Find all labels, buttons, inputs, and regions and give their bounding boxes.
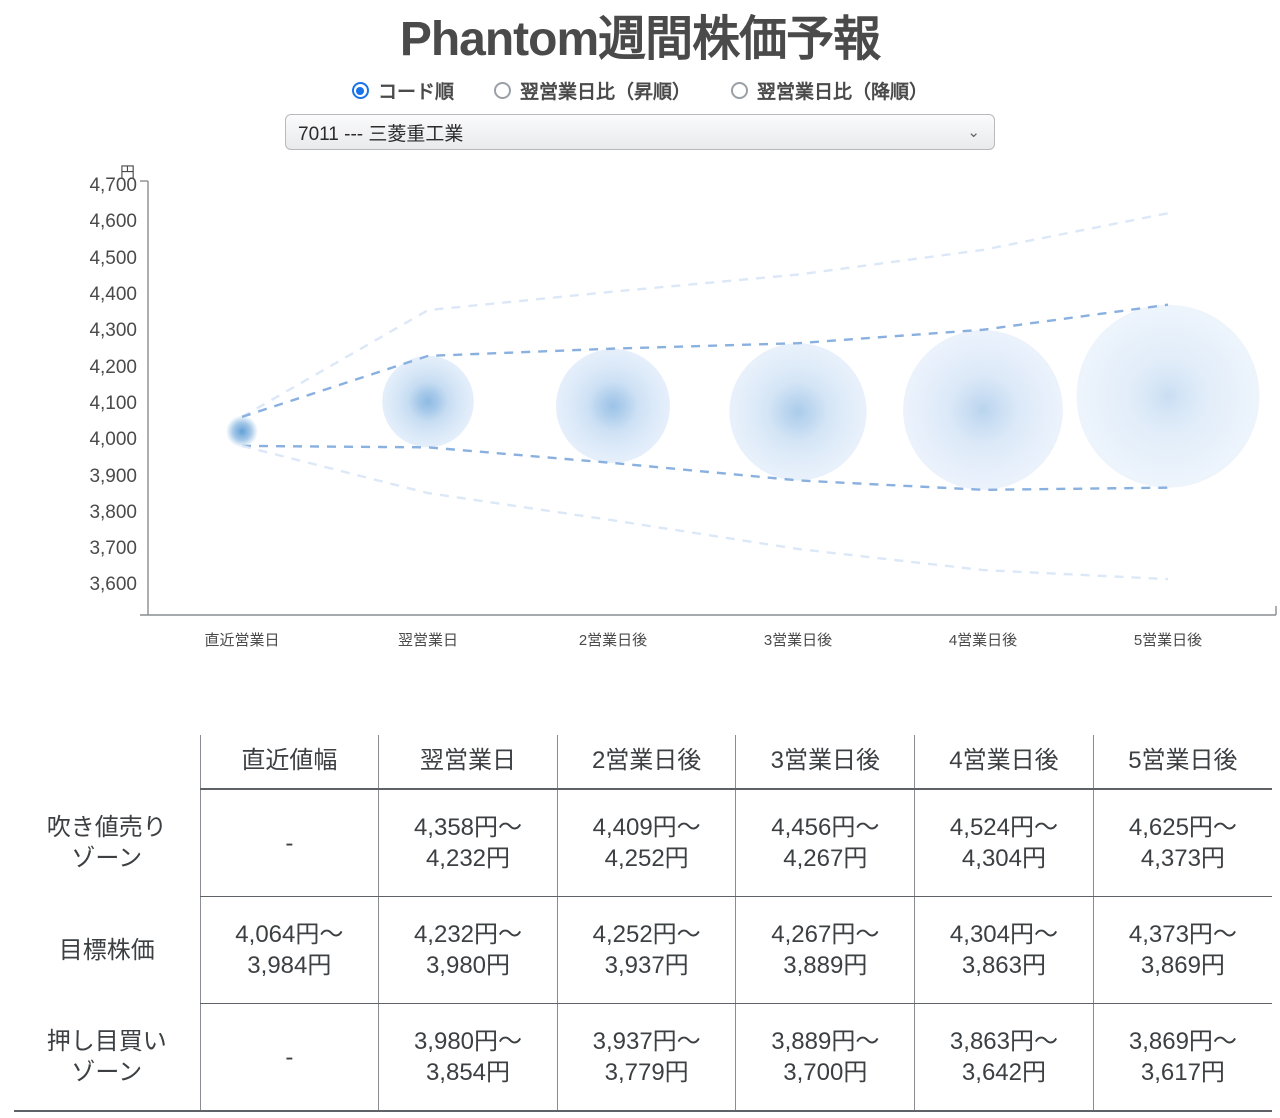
table-col-header-4: 3営業日後 bbox=[736, 735, 915, 789]
row-header-line: 吹き値売り bbox=[18, 812, 196, 843]
cell-line: 3,980円 bbox=[383, 950, 553, 981]
cell-line: 4,456円〜 bbox=[740, 812, 910, 843]
blob-core bbox=[1079, 308, 1256, 485]
table-col-header-3: 2営業日後 bbox=[557, 735, 736, 789]
sort-order-radio-group: コード順 翌営業日比（昇順） 翌営業日比（降順） bbox=[0, 77, 1280, 104]
row-header-line: ゾーン bbox=[18, 1057, 196, 1088]
cell-line: 3,937円〜 bbox=[562, 1026, 732, 1057]
table-row-header: 押し目買いゾーン bbox=[14, 1004, 200, 1112]
table-cell: 4,373円〜3,869円 bbox=[1093, 897, 1272, 1004]
cell-line: 4,267円〜 bbox=[740, 919, 910, 950]
cell-line: 4,267円 bbox=[740, 843, 910, 874]
y-axis-tick-label: 3,800 bbox=[0, 502, 137, 524]
blob-core bbox=[731, 345, 864, 478]
cell-line: 3,863円 bbox=[919, 950, 1089, 981]
cell-line: 3,869円〜 bbox=[1098, 1026, 1268, 1057]
table-cell: 4,409円〜4,252円 bbox=[557, 789, 736, 897]
table-cell: 4,252円〜3,937円 bbox=[557, 897, 736, 1004]
table-row: 押し目買いゾーン-3,980円〜3,854円3,937円〜3,779円3,889… bbox=[14, 1004, 1272, 1112]
table-row: 目標株価4,064円〜3,984円4,232円〜3,980円4,252円〜3,9… bbox=[14, 897, 1272, 1004]
radio-button-icon[interactable] bbox=[731, 82, 748, 99]
x-axis-tick-label: 翌営業日 bbox=[398, 629, 458, 650]
radio-option-next-day-desc[interactable]: 翌営業日比（降順） bbox=[731, 77, 928, 104]
blob-core bbox=[226, 416, 258, 448]
cell-line: 4,373円 bbox=[1098, 843, 1268, 874]
table-cell: 4,358円〜4,232円 bbox=[379, 789, 558, 897]
chart-blob-layer bbox=[226, 305, 1259, 490]
cell-line: 4,358円〜 bbox=[383, 812, 553, 843]
y-axis-tick-label: 3,900 bbox=[0, 466, 137, 488]
forecast-chart: 4,7004,6004,5004,4004,3004,2004,1004,000… bbox=[0, 164, 1280, 684]
radio-option-label: 翌営業日比（降順） bbox=[757, 77, 928, 104]
cell-line: 4,252円 bbox=[562, 843, 732, 874]
row-header-line: 目標株価 bbox=[18, 935, 196, 966]
y-axis-tick-label: 4,700 bbox=[0, 175, 137, 197]
cell-line: 4,252円〜 bbox=[562, 919, 732, 950]
x-axis-tick-label: 3営業日後 bbox=[764, 629, 832, 650]
stock-select[interactable]: 7011 --- 三菱重工業 ⌄ bbox=[285, 114, 995, 150]
row-header-line: 押し目買い bbox=[18, 1026, 196, 1057]
table-cell: 3,937円〜3,779円 bbox=[557, 1004, 736, 1112]
forecast-table: 直近値幅 翌営業日 2営業日後 3営業日後 4営業日後 5営業日後 吹き値売りゾ… bbox=[14, 735, 1272, 1112]
x-axis-tick-label: 2営業日後 bbox=[579, 629, 647, 650]
cell-line: 4,625円〜 bbox=[1098, 812, 1268, 843]
table-col-header-5: 4営業日後 bbox=[915, 735, 1094, 789]
table-cell: - bbox=[200, 789, 379, 897]
cell-line: 4,304円 bbox=[919, 843, 1089, 874]
cell-line: 3,617円 bbox=[1098, 1057, 1268, 1088]
table-body: 吹き値売りゾーン-4,358円〜4,232円4,409円〜4,252円4,456… bbox=[14, 789, 1272, 1111]
table-cell: 4,304円〜3,863円 bbox=[915, 897, 1094, 1004]
table-cell: 4,267円〜3,889円 bbox=[736, 897, 915, 1004]
table-col-header-2: 翌営業日 bbox=[379, 735, 558, 789]
y-axis-tick-label: 4,000 bbox=[0, 429, 137, 451]
y-axis-tick-label: 4,300 bbox=[0, 320, 137, 342]
cell-line: 3,700円 bbox=[740, 1057, 910, 1088]
cell-line: 3,854円 bbox=[383, 1057, 553, 1088]
y-axis-tick-label: 4,500 bbox=[0, 248, 137, 270]
x-axis-tick-label: 4営業日後 bbox=[949, 629, 1017, 650]
table-cell: 4,232円〜3,980円 bbox=[379, 897, 558, 1004]
radio-option-label: コード順 bbox=[378, 77, 454, 104]
table-cell: 3,980円〜3,854円 bbox=[379, 1004, 558, 1112]
cell-line: - bbox=[205, 1042, 375, 1073]
cell-line: 4,373円〜 bbox=[1098, 919, 1268, 950]
table-row-header: 目標株価 bbox=[14, 897, 200, 1004]
table-row-header: 吹き値売りゾーン bbox=[14, 789, 200, 897]
cell-line: 4,409円〜 bbox=[562, 812, 732, 843]
y-axis-tick-label: 4,600 bbox=[0, 211, 137, 233]
cell-line: 3,980円〜 bbox=[383, 1026, 553, 1057]
table-cell: 4,456円〜4,267円 bbox=[736, 789, 915, 897]
y-axis-tick-label: 3,600 bbox=[0, 574, 137, 596]
y-axis-tick-label: 3,700 bbox=[0, 538, 137, 560]
row-header-line: ゾーン bbox=[18, 843, 196, 874]
blob-core bbox=[558, 351, 669, 462]
cell-line: 3,779円 bbox=[562, 1057, 732, 1088]
y-axis-unit-label: 円 bbox=[120, 164, 135, 182]
table-col-header-1: 直近値幅 bbox=[200, 735, 379, 789]
radio-option-code-order[interactable]: コード順 bbox=[352, 77, 454, 104]
stock-select-container: 7011 --- 三菱重工業 ⌄ bbox=[0, 114, 1280, 150]
table-cell: - bbox=[200, 1004, 379, 1112]
table-header-row: 直近値幅 翌営業日 2営業日後 3営業日後 4営業日後 5営業日後 bbox=[14, 735, 1272, 789]
stock-select-value: 7011 --- 三菱重工業 bbox=[298, 119, 463, 146]
table-row: 吹き値売りゾーン-4,358円〜4,232円4,409円〜4,252円4,456… bbox=[14, 789, 1272, 897]
cell-line: - bbox=[205, 828, 375, 859]
y-axis-tick-label: 4,100 bbox=[0, 393, 137, 415]
cell-line: 3,863円〜 bbox=[919, 1026, 1089, 1057]
table-cell: 3,863円〜3,642円 bbox=[915, 1004, 1094, 1112]
cell-line: 3,889円 bbox=[740, 950, 910, 981]
table-cell: 4,524円〜4,304円 bbox=[915, 789, 1094, 897]
page-title: Phantom週間株価予報 bbox=[0, 0, 1280, 73]
table-cell: 3,869円〜3,617円 bbox=[1093, 1004, 1272, 1112]
radio-button-icon[interactable] bbox=[494, 82, 511, 99]
cell-line: 3,889円〜 bbox=[740, 1026, 910, 1057]
table-col-header-6: 5営業日後 bbox=[1093, 735, 1272, 789]
blob-core bbox=[906, 333, 1061, 488]
table-cell: 3,889円〜3,700円 bbox=[736, 1004, 915, 1112]
y-axis-tick-label: 4,400 bbox=[0, 284, 137, 306]
table-cell: 4,064円〜3,984円 bbox=[200, 897, 379, 1004]
table-cell: 4,625円〜4,373円 bbox=[1093, 789, 1272, 897]
cell-line: 4,524円〜 bbox=[919, 812, 1089, 843]
cell-line: 3,984円 bbox=[205, 950, 375, 981]
cell-line: 3,937円 bbox=[562, 950, 732, 981]
blob-core bbox=[384, 357, 473, 446]
x-axis-tick-label: 5営業日後 bbox=[1134, 629, 1202, 650]
chart-canvas bbox=[0, 164, 1280, 684]
chevron-down-icon: ⌄ bbox=[967, 123, 980, 141]
cell-line: 4,304円〜 bbox=[919, 919, 1089, 950]
radio-button-icon[interactable] bbox=[352, 82, 369, 99]
radio-option-next-day-asc[interactable]: 翌営業日比（昇順） bbox=[494, 77, 691, 104]
x-axis-tick-label: 直近営業日 bbox=[204, 629, 279, 650]
radio-option-label: 翌営業日比（昇順） bbox=[520, 77, 691, 104]
cell-line: 4,064円〜 bbox=[205, 919, 375, 950]
table-col-header-blank bbox=[14, 735, 200, 789]
forecast-table-container: 直近値幅 翌営業日 2営業日後 3営業日後 4営業日後 5営業日後 吹き値売りゾ… bbox=[0, 735, 1280, 1112]
cell-line: 3,642円 bbox=[919, 1057, 1089, 1088]
y-axis-tick-label: 4,200 bbox=[0, 357, 137, 379]
cell-line: 4,232円 bbox=[383, 843, 553, 874]
cell-line: 4,232円〜 bbox=[383, 919, 553, 950]
cell-line: 3,869円 bbox=[1098, 950, 1268, 981]
